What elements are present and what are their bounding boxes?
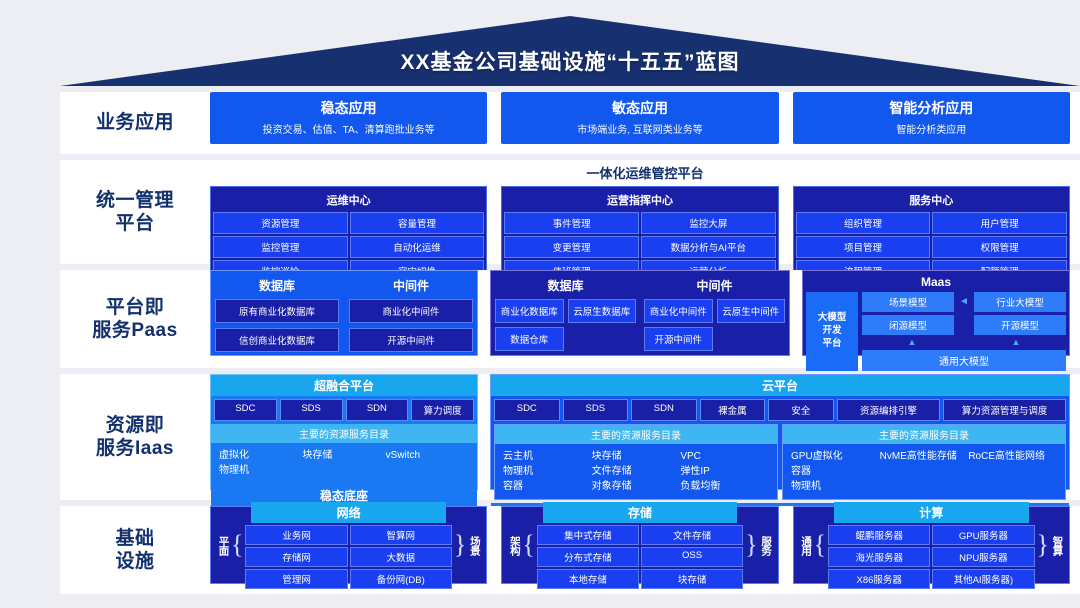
infra-card-title: 存储: [543, 502, 737, 523]
infra-item[interactable]: 文件存储: [641, 525, 743, 545]
maas-open-model[interactable]: 开源模型: [974, 315, 1066, 335]
row-label-line1: 统一管理: [60, 189, 210, 212]
infra-item[interactable]: 管理网: [245, 569, 347, 589]
brace-right-icon: }: [1037, 532, 1049, 558]
brace-left-icon: {: [231, 532, 243, 558]
application-cards: 稳态应用 投资交易、估值、TA、清算跑批业务等 敏态应用 市场端业务, 互联网类…: [210, 92, 1080, 144]
infra-item[interactable]: 智算网: [350, 525, 452, 545]
center-title: 运维中心: [213, 189, 484, 212]
row-label-unified-management: 统一管理 平台: [60, 189, 210, 235]
row-label-line1: 平台即: [60, 296, 210, 319]
paas-column-title: 中间件: [349, 275, 473, 299]
paas-item[interactable]: 原有商业化数据库: [215, 299, 339, 323]
hci-cap[interactable]: SDC: [214, 399, 277, 421]
blueprint-diagram: XX基金公司基础设施“十五五”蓝图 业务应用 稳态应用 投资交易、估值、TA、清…: [0, 0, 1080, 608]
infra-item[interactable]: X86服务器: [828, 569, 930, 589]
app-card-intelligent-analysis[interactable]: 智能分析应用 智能分析类应用: [793, 92, 1070, 144]
center-cell[interactable]: 监控管理: [213, 236, 348, 258]
paas-column-title: 数据库: [215, 275, 339, 299]
platform-title: 一体化运维管控平台: [210, 160, 1080, 186]
hci-cap[interactable]: SDN: [346, 399, 409, 421]
app-card-agile[interactable]: 敏态应用 市场端业务, 互联网类业务等: [501, 92, 778, 144]
infra-item[interactable]: 集中式存储: [537, 525, 639, 545]
center-cell[interactable]: 用户管理: [932, 212, 1067, 234]
cloud-catalog-agile: 主要的资源服务目录 GPU虚拟化 NvME高性能存储 RoCE高性能网络 容器: [782, 424, 1066, 500]
row-label-paas: 平台即 服务Paas: [60, 296, 210, 342]
center-cell[interactable]: 事件管理: [504, 212, 639, 234]
app-card-title: 敏态应用: [612, 100, 668, 118]
infra-item[interactable]: 分布式存储: [537, 547, 639, 567]
hci-cap[interactable]: SDS: [280, 399, 343, 421]
paas-column-database: 数据库 原有商业化数据库 信创商业化数据库: [215, 275, 339, 351]
row-label-line2: 服务Paas: [60, 319, 210, 342]
catalog-item[interactable]: 块存储: [302, 448, 385, 463]
paas-item-grid: 商业化中间件 云原生中间件 开源中间件 .: [644, 299, 785, 351]
infra-item[interactable]: 其他AI服务器): [932, 569, 1034, 589]
infra-right-label: 智算: [1049, 536, 1065, 555]
paas-item-grid: 商业化数据库 云原生数据库 数据仓库 .: [495, 299, 636, 351]
catalog-item[interactable]: 弹性IP: [680, 464, 769, 479]
maas-closed-model[interactable]: 闭源模型: [862, 315, 954, 335]
infra-item[interactable]: 鲲鹏服务器: [828, 525, 930, 545]
infra-card-title: 网络: [251, 502, 445, 523]
infra-left-label: 平面: [215, 536, 231, 555]
cloud-catalog-title: 主要的资源服务目录: [495, 425, 777, 444]
row-business-applications: 业务应用 稳态应用 投资交易、估值、TA、清算跑批业务等 敏态应用 市场端业务,…: [60, 92, 1080, 154]
infra-left-label: 通用: [798, 536, 814, 555]
paas-item[interactable]: 商业化数据库: [495, 299, 564, 323]
row-paas: 平台即 服务Paas 数据库 原有商业化数据库 信创商业化数据库 中间件 商业化…: [60, 270, 1080, 368]
infra-left-label: 架构: [506, 536, 522, 555]
row-label-line1: 资源即: [60, 414, 210, 437]
hci-capabilities: SDC SDS SDN 算力调度: [211, 396, 477, 424]
iaas-blocks: 超融合平台 SDC SDS SDN 算力调度 主要的资源服务目录 虚拟化 块存储…: [210, 374, 1080, 490]
catalog-item[interactable]: GPU虚拟化: [791, 449, 880, 464]
infra-item[interactable]: 大数据: [350, 547, 452, 567]
maas-industry-model[interactable]: 行业大模型: [974, 292, 1066, 312]
center-cell[interactable]: 数据分析与AI平台: [641, 236, 776, 258]
center-title: 运营指挥中心: [504, 189, 775, 212]
catalog-item: [968, 479, 1057, 494]
infra-item[interactable]: 块存储: [641, 569, 743, 589]
page-title: XX基金公司基础设施“十五五”蓝图: [60, 46, 1080, 76]
paas-item[interactable]: 商业化中间件: [644, 299, 713, 323]
paas-column-database: 数据库 商业化数据库 云原生数据库 数据仓库 .: [495, 275, 636, 351]
maas-title: Maas: [806, 274, 1066, 292]
paas-item[interactable]: 信创商业化数据库: [215, 328, 339, 352]
brace-left-icon: {: [814, 532, 826, 558]
hci-title: 超融合平台: [211, 375, 477, 396]
center-title: 服务中心: [796, 189, 1067, 212]
row-label-business-applications: 业务应用: [60, 111, 210, 134]
infra-card-network: 平面 { 网络 业务网 智算网 存储网 大数据 管理网 备份网(DB): [210, 506, 487, 584]
infra-card-compute: 通用 { 计算 鲲鹏服务器 GPU服务器 海光服务器 NPU服务器 X86服务器…: [793, 506, 1070, 584]
center-cell[interactable]: 组织管理: [796, 212, 931, 234]
row-unified-management: 统一管理 平台 一体化运维管控平台 运维中心 资源管理 容量管理 监控管理 自动…: [60, 160, 1080, 264]
infra-item[interactable]: 存储网: [245, 547, 347, 567]
arrow-up-icon: ▲: [862, 338, 962, 347]
cloud-platform: 云平台 SDC SDS SDN 裸金属 安全 资源编排引擎 算力资源管理与调度 …: [490, 374, 1070, 490]
brace-right-icon: }: [454, 532, 466, 558]
infra-right-label: 服务: [758, 536, 774, 555]
center-cell[interactable]: 变更管理: [504, 236, 639, 258]
center-cell[interactable]: 容量管理: [350, 212, 485, 234]
catalog-item[interactable]: 对象存储: [592, 479, 681, 494]
row-label-infrastructure: 基础 设施: [60, 527, 210, 573]
catalog-item[interactable]: 虚拟化: [219, 448, 302, 463]
catalog-item: [880, 479, 969, 494]
maas-dev-line1: 大模型: [818, 312, 847, 325]
row-iaas: 资源即 服务Iaas 超融合平台 SDC SDS SDN 算力调度 主要的资源服…: [60, 374, 1080, 500]
maas-scene-model[interactable]: 场景模型: [862, 292, 954, 312]
arrow-up-icon: ▲: [966, 338, 1066, 347]
cloud-cap[interactable]: 资源编排引擎: [837, 399, 941, 421]
infrastructure-cards: 平面 { 网络 业务网 智算网 存储网 大数据 管理网 备份网(DB): [210, 506, 1080, 584]
infra-item[interactable]: 业务网: [245, 525, 347, 545]
catalog-item[interactable]: VPC: [680, 449, 769, 464]
paas-block-legacy: 数据库 原有商业化数据库 信创商业化数据库 中间件 商业化中间件 开源中间件: [210, 270, 478, 356]
cloud-cap[interactable]: 算力资源管理与调度: [943, 399, 1066, 421]
maas-dev-platform[interactable]: 大模型 开发 平台: [806, 292, 858, 371]
maas-general-model[interactable]: 通用大模型: [862, 350, 1066, 371]
infra-item[interactable]: OSS: [641, 547, 743, 567]
center-cell[interactable]: 权限管理: [932, 236, 1067, 258]
paas-item[interactable]: 商业化中间件: [349, 299, 473, 323]
row-label-iaas: 资源即 服务Iaas: [60, 414, 210, 460]
app-card-subtitle: 市场端业务, 互联网类业务等: [577, 121, 703, 136]
app-card-subtitle: 投资交易、估值、TA、清算跑批业务等: [263, 121, 435, 136]
catalog-item[interactable]: 云主机: [503, 449, 592, 464]
paas-item[interactable]: 云原生中间件: [717, 299, 786, 323]
infra-card-title: 计算: [834, 502, 1028, 523]
catalog-item: [302, 463, 385, 478]
center-cell[interactable]: 项目管理: [796, 236, 931, 258]
cloud-title: 云平台: [491, 375, 1069, 396]
row-label-line1: 基础: [60, 527, 210, 550]
app-card-stable[interactable]: 稳态应用 投资交易、估值、TA、清算跑批业务等: [210, 92, 487, 144]
catalog-item: [968, 464, 1057, 479]
cloud-cap[interactable]: 安全: [768, 399, 834, 421]
row-infrastructure: 基础 设施 平面 { 网络 业务网 智算网 存储网 大数据 管理网: [60, 506, 1080, 594]
paas-column-title: 中间件: [644, 275, 785, 299]
app-card-title: 稳态应用: [321, 100, 377, 118]
catalog-item[interactable]: NvME高性能存储: [880, 449, 969, 464]
brace-right-icon: }: [745, 532, 757, 558]
row-label-line2: 平台: [60, 212, 210, 235]
infra-card-storage: 架构 { 存储 集中式存储 文件存储 分布式存储 OSS 本地存储 块存储: [501, 506, 778, 584]
hci-platform: 超融合平台 SDC SDS SDN 算力调度 主要的资源服务目录 虚拟化 块存储…: [210, 374, 478, 490]
catalog-item: [386, 463, 469, 478]
cloud-cap[interactable]: SDS: [563, 399, 629, 421]
paas-item[interactable]: 开源中间件: [644, 327, 713, 351]
brace-left-icon: {: [522, 532, 534, 558]
catalog-item[interactable]: vSwitch: [386, 448, 469, 463]
arrow-left-icon: ◄: [958, 297, 970, 307]
infra-right-label: 场景: [466, 536, 482, 555]
app-card-title: 智能分析应用: [889, 100, 973, 118]
infra-item[interactable]: 本地存储: [537, 569, 639, 589]
cloud-cap[interactable]: 裸金属: [700, 399, 766, 421]
infra-item[interactable]: 海光服务器: [828, 547, 930, 567]
catalog-item[interactable]: 块存储: [592, 449, 681, 464]
catalog-item[interactable]: 物理机: [503, 464, 592, 479]
catalog-item[interactable]: 负载均衡: [680, 479, 769, 494]
paas-item[interactable]: 云原生数据库: [568, 299, 637, 323]
cloud-catalog-stable: 主要的资源服务目录 云主机 块存储 VPC 物理机 文件存储 弹性IP 容器: [494, 424, 778, 500]
paas-column-title: 数据库: [495, 275, 636, 299]
catalog-item[interactable]: 容器: [791, 464, 880, 479]
row-label-line2: 服务Iaas: [60, 437, 210, 460]
paas-column-middleware: 中间件 商业化中间件 开源中间件: [349, 275, 473, 351]
paas-column-middleware: 中间件 商业化中间件 云原生中间件 开源中间件 .: [644, 275, 785, 351]
maas-dev-line2: 开发: [818, 325, 847, 338]
hci-catalog: 虚拟化 块存储 vSwitch 物理机: [211, 443, 477, 483]
hci-catalog-title: 主要的资源服务目录: [211, 424, 477, 443]
paas-block-cloudnative: 数据库 商业化数据库 云原生数据库 数据仓库 . 中间件 商业化中间件 云原生中…: [490, 270, 790, 356]
maas-dev-line3: 平台: [818, 338, 847, 351]
cloud-capabilities: SDC SDS SDN 裸金属 安全 资源编排引擎 算力资源管理与调度: [491, 396, 1069, 424]
cloud-catalog-title: 主要的资源服务目录: [783, 425, 1065, 444]
center-cell[interactable]: 资源管理: [213, 212, 348, 234]
paas-item[interactable]: 数据仓库: [495, 327, 564, 351]
catalog-item[interactable]: 文件存储: [592, 464, 681, 479]
catalog-item: [880, 464, 969, 479]
infra-item[interactable]: 备份网(DB): [350, 569, 452, 589]
cloud-cap[interactable]: SDN: [631, 399, 697, 421]
catalog-item[interactable]: RoCE高性能网络: [968, 449, 1057, 464]
title-roof: XX基金公司基础设施“十五五”蓝图: [60, 16, 1080, 86]
row-label-line2: 设施: [60, 550, 210, 573]
paas-block-maas: Maas 大模型 开发 平台 场景模型 ◄: [802, 270, 1070, 356]
infra-item[interactable]: GPU服务器: [932, 525, 1034, 545]
center-cell[interactable]: 自动化运维: [350, 236, 485, 258]
catalog-item[interactable]: 容器: [503, 479, 592, 494]
cloud-cap[interactable]: SDC: [494, 399, 560, 421]
center-cell[interactable]: 监控大屏: [641, 212, 776, 234]
paas-blocks: 数据库 原有商业化数据库 信创商业化数据库 中间件 商业化中间件 开源中间件 数…: [210, 270, 1080, 356]
hci-cap[interactable]: 算力调度: [411, 399, 474, 421]
catalog-item[interactable]: 物理机: [219, 463, 302, 478]
infra-item[interactable]: NPU服务器: [932, 547, 1034, 567]
catalog-item[interactable]: 物理机: [791, 479, 880, 494]
paas-item[interactable]: 开源中间件: [349, 328, 473, 352]
app-card-subtitle: 智能分析类应用: [896, 121, 966, 136]
